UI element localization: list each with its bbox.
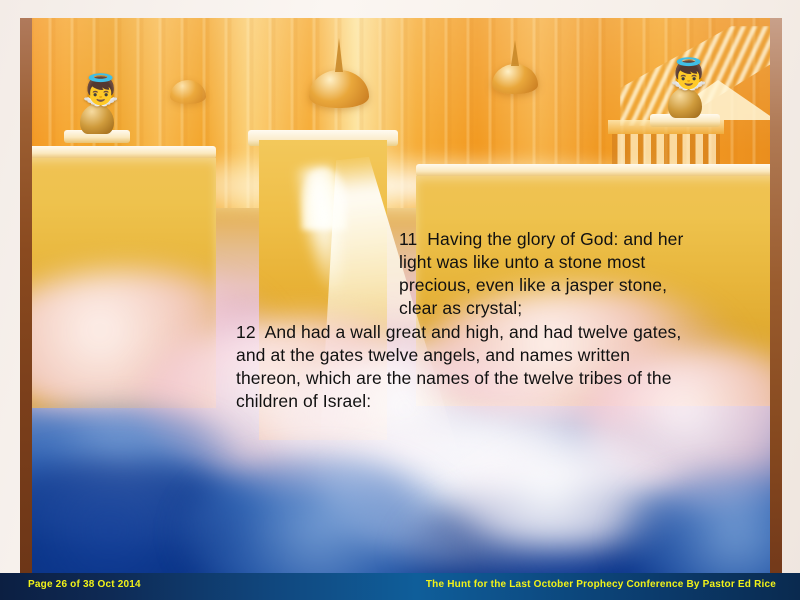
pedestal-left xyxy=(80,104,114,134)
spire-right xyxy=(511,40,519,66)
scripture-verse-11: 11 Having the glory of God: and her ligh… xyxy=(399,228,684,320)
picture-edge-right xyxy=(770,18,782,574)
scripture-verse-12: 12 And had a wall great and high, and ha… xyxy=(236,321,696,413)
pedestal-right xyxy=(668,88,702,118)
spire-center xyxy=(335,38,343,72)
angel-statue-right-icon: 👼 xyxy=(670,60,707,90)
footer-page-info: Page 26 of 38 Oct 2014 xyxy=(28,579,141,590)
picture-edge-left xyxy=(20,18,32,574)
slide-footer: Page 26 of 38 Oct 2014 The Hunt for the … xyxy=(0,573,800,600)
footer-presentation-title: The Hunt for the Last October Prophecy C… xyxy=(426,579,776,590)
presentation-slide: 👼 👼 11 Having the glory of God: xyxy=(0,0,800,600)
angel-statue-left-icon: 👼 xyxy=(82,76,119,106)
